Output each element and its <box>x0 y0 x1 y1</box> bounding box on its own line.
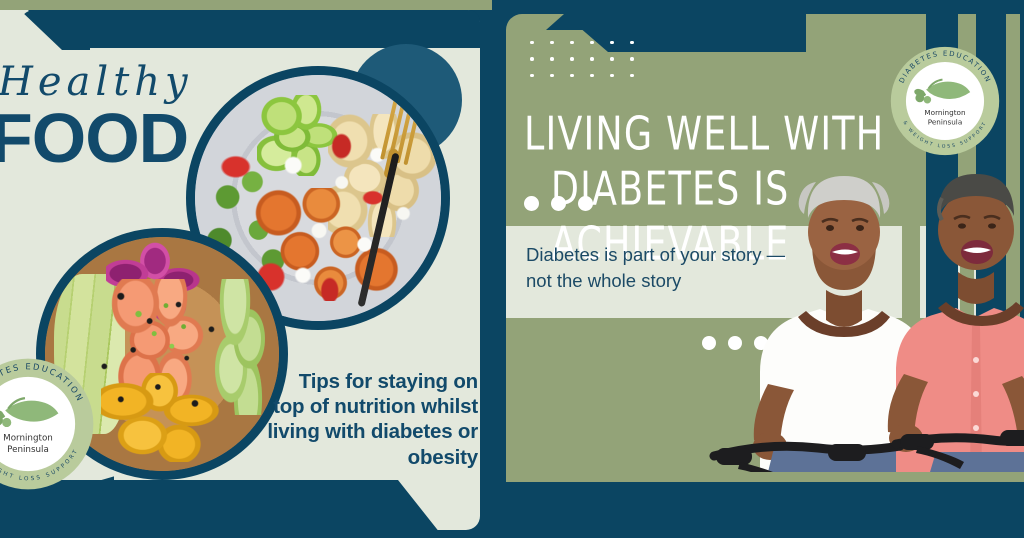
three-dots-upper <box>524 196 593 211</box>
man-figure <box>888 174 1024 472</box>
photo-senior-couple-bicycles <box>700 122 1024 472</box>
tips-text: Tips for staying on top of nutrition whi… <box>264 369 478 471</box>
main-title-food: FOOD <box>0 104 270 173</box>
slide-pair-canvas: Healthy FOOD <box>0 0 1024 538</box>
logo-center-line2: Peninsula <box>928 117 963 126</box>
left-top-sage-strip <box>0 0 492 10</box>
dot-grid-decoration <box>522 34 642 84</box>
logo-badge-top-right: DIABETES EDUCATION & WEIGHT LOSS SUPPORT… <box>882 38 1008 164</box>
right-navy-bottom-bar <box>492 482 1024 538</box>
slide-living-well: LIVING WELL WITH DIABETES IS ACHIEVABLE … <box>492 0 1024 538</box>
slide-healthy-food: Healthy FOOD <box>0 0 492 538</box>
logo-badge-bottom-left: DIABETES EDUCATION & WEIGHT LOSS SUPPORT… <box>0 348 104 500</box>
script-title-healthy: Healthy <box>0 62 270 102</box>
logo-center-line1: Mornington <box>924 108 965 117</box>
logo-center-line1: Mornington <box>3 434 53 444</box>
left-headline-group: Healthy FOOD <box>0 62 270 173</box>
logo-center-line2: Peninsula <box>7 445 49 455</box>
right-navy-notch-corner <box>546 14 592 30</box>
